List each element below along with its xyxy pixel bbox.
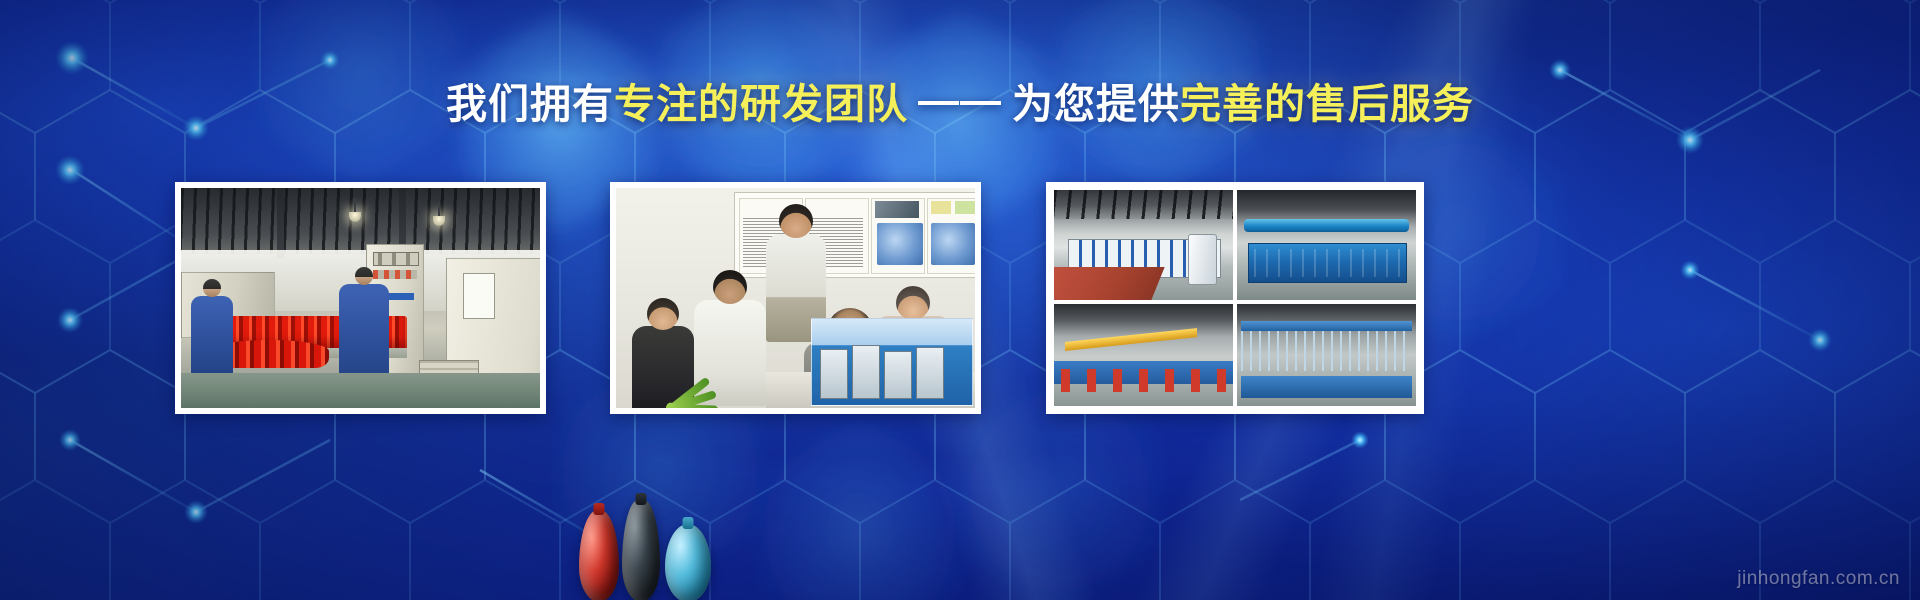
headline-dash: ——	[918, 74, 1002, 126]
equipment-unit	[820, 349, 848, 399]
red-walkway	[1052, 267, 1165, 300]
board-diagram	[931, 223, 975, 265]
gantry-beam	[1241, 321, 1413, 331]
factory-worker	[191, 296, 233, 382]
page-title: 我们拥有专注的研发团队——为您提供完善的售后服务	[0, 78, 1920, 130]
headline-segment-4: 完善的售后服务	[1180, 81, 1474, 127]
panel-buttons	[373, 270, 417, 279]
product-vases	[575, 482, 725, 600]
blue-duct	[1244, 219, 1409, 232]
person-head	[779, 204, 813, 238]
roof-beam	[277, 188, 284, 258]
black-vase	[622, 500, 660, 600]
equipment-unit	[852, 345, 880, 399]
composite-panel-crane	[1052, 302, 1235, 408]
team-meeting-image	[616, 188, 975, 408]
headline-segment-3: 为您提供	[1012, 81, 1180, 127]
blue-frame-rail	[1241, 376, 1413, 398]
vase-neck	[683, 517, 694, 529]
headline-segment-2: 专注的研发团队	[614, 81, 908, 127]
team-meeting-photo[interactable]	[610, 182, 981, 414]
person-head	[896, 286, 930, 320]
posted-document	[463, 273, 495, 319]
hanger-array	[1241, 331, 1413, 372]
factory-floor	[181, 373, 540, 408]
worker-head	[355, 267, 373, 285]
promo-banner: 我们拥有专注的研发团队——为您提供完善的售后服务	[0, 0, 1920, 600]
production-line-image	[181, 188, 540, 408]
vase-body	[665, 524, 711, 600]
blue-oven-line	[1248, 243, 1408, 283]
storage-tank	[1188, 234, 1217, 285]
red-vase	[579, 510, 619, 600]
board-photo-thumb	[931, 201, 951, 214]
foreground-plant	[626, 350, 722, 408]
roof-structure	[1054, 190, 1233, 219]
red-carts	[1061, 369, 1226, 391]
vase-neck	[636, 493, 647, 505]
equipment-unit	[884, 351, 912, 399]
site-watermark: jinhongfan.com.cn	[1737, 568, 1900, 590]
factory-roof	[181, 188, 540, 254]
equipment-composite-photo[interactable]	[1046, 182, 1424, 414]
equipment-inset-photo	[811, 318, 973, 406]
worker-head	[203, 279, 221, 297]
equipment-unit	[916, 347, 944, 399]
vase-body	[622, 500, 660, 600]
equipment-composite-image	[1052, 188, 1418, 408]
vase-body	[579, 510, 619, 600]
composite-panel-blue-oven	[1235, 188, 1418, 302]
person-head	[713, 270, 747, 304]
photo-gallery	[0, 182, 1920, 416]
composite-panel-hanger-line	[1235, 302, 1418, 408]
vase-neck	[594, 503, 605, 515]
headline-segment-1: 我们拥有	[446, 81, 614, 127]
production-line-photo[interactable]	[175, 182, 546, 414]
blue-vase	[665, 524, 711, 600]
panel-dials	[373, 252, 419, 266]
person-head	[647, 298, 679, 330]
board-diagram	[877, 223, 923, 265]
composite-panel-workshop	[1052, 188, 1235, 302]
board-photo-thumb	[875, 201, 919, 218]
board-photo-thumb	[955, 201, 975, 214]
